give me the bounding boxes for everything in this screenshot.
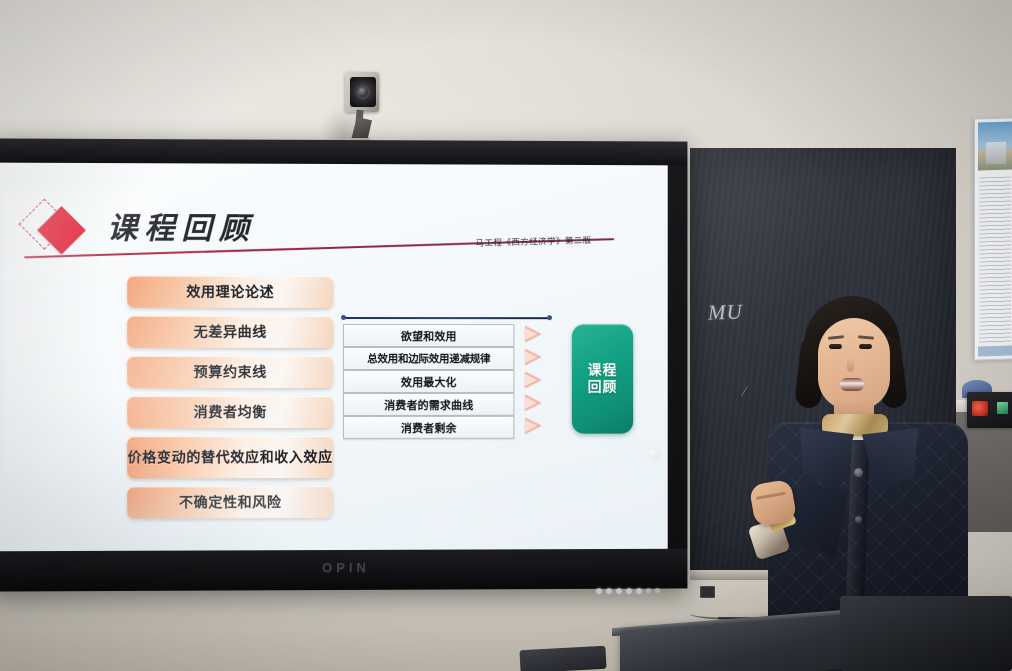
display-screen[interactable]: 课程回顾 马工程《西方经济学》第二版 效用理论论述 无差异曲线 预算约束线 消 [0,163,668,552]
left-item-5[interactable]: 价格变动的替代效应和收入效应 [127,436,333,478]
instructor-eye-left [829,344,842,349]
arrow-right-icon-2 [525,349,541,365]
left-item-4-label: 消费者均衡 [194,404,267,420]
alarm-green-indicator-icon [997,402,1008,414]
arrow-right-icon-4 [525,395,541,411]
mid-item-5-label: 消费者剩余 [401,419,457,435]
mid-item-1[interactable]: 欲望和效用 [343,324,514,347]
poster-text-block [979,177,1011,344]
display-top-bezel [0,138,687,165]
left-item-4[interactable]: 消费者均衡 [127,396,333,428]
instructor-jacket-button-top [854,468,863,477]
connector-line [343,317,550,320]
desk-object [519,646,606,671]
slide-title: 课程回顾 [107,203,256,248]
interactive-display-panel[interactable]: 课程回顾 马工程《西方经济学》第二版 效用理论论述 无差异曲线 预算约束线 消 [0,138,687,591]
green-badge-label: 课程回顾 [588,362,618,397]
left-item-1-label: 效用理论论述 [186,284,274,300]
mid-row-3: 效用最大化 [343,370,512,391]
left-item-1[interactable]: 效用理论论述 [127,276,333,308]
instructor-eye-right [859,344,872,349]
arrow-right-icon-3 [525,372,541,388]
mid-row-4: 消费者的需求曲线 [343,393,512,414]
connector-endpoint-right [547,315,552,320]
instructor-jacket-button-bottom [855,516,862,523]
control-button-1[interactable] [596,588,602,594]
left-item-6-label: 不确定性和风险 [179,494,282,510]
connector-endpoint-left [341,315,346,320]
left-item-2-label: 无差异曲线 [194,324,267,340]
mid-item-2-label: 总效用和边际效用递减规律 [367,351,490,366]
classroom-scene: MU / 课程回顾 马工程《西方经济学》第二版 效用理论论述 [0,0,1012,671]
arrow-right-icon-5 [525,418,541,434]
mid-row-2: 总效用和边际效用递减规律 [343,347,512,368]
control-button-5[interactable] [636,588,642,594]
left-item-6[interactable]: 不确定性和风险 [127,486,333,519]
camera-lens-icon [350,77,376,107]
control-button-2[interactable] [606,588,612,594]
presentation-slide[interactable]: 课程回顾 马工程《西方经济学》第二版 效用理论论述 无差异曲线 预算约束线 消 [0,163,668,552]
mid-item-3-label: 效用最大化 [401,373,457,389]
left-item-3[interactable]: 预算约束线 [127,356,333,388]
screen-reflection-dot [648,447,661,460]
display-usb-port[interactable] [700,586,715,598]
poster-photo [978,122,1012,171]
mid-item-1-label: 欲望和效用 [401,328,457,344]
mid-row-5: 消费者剩余 [343,416,512,437]
green-badge-line1: 课程 [588,362,618,378]
control-button-6[interactable] [646,588,651,593]
control-button-4[interactable] [626,588,632,594]
instructor-nose [847,358,854,372]
control-button-7[interactable] [655,588,660,593]
instructor-face [818,318,890,410]
display-brand-logo: OPIN [290,560,402,576]
mid-item-2[interactable]: 总效用和边际效用递减规律 [343,347,514,370]
arrow-right-icon-1 [525,326,541,342]
left-item-5-label: 价格变动的替代效应和收入效应 [127,449,332,466]
poster-footer-band [978,346,1012,357]
mid-item-4[interactable]: 消费者的需求曲线 [343,393,514,416]
green-badge-line2: 回顾 [588,379,618,395]
slide-left-column: 效用理论论述 无差异曲线 预算约束线 消费者均衡 价格变动的替代效应和收入效应 [127,276,333,527]
mid-item-5[interactable]: 消费者剩余 [343,416,514,439]
mid-item-4-label: 消费者的需求曲线 [384,396,473,412]
slide-middle-column: 欲望和效用 总效用和边际效用递减规律 效用最大化 [343,324,512,439]
slide-connector-bracket [343,316,550,320]
left-item-3-label: 预算约束线 [194,364,267,380]
slide-green-badge[interactable]: 课程回顾 [572,324,633,433]
slide-diamond-decoration [14,203,101,260]
left-item-2[interactable]: 无差异曲线 [127,316,333,348]
display-control-buttons[interactable] [596,588,660,594]
control-button-3[interactable] [616,588,622,594]
monitor-rear [840,596,1012,671]
instructor-mouth [840,378,864,391]
mid-item-3[interactable]: 效用最大化 [343,370,514,393]
mid-row-1: 欲望和效用 [343,324,512,345]
